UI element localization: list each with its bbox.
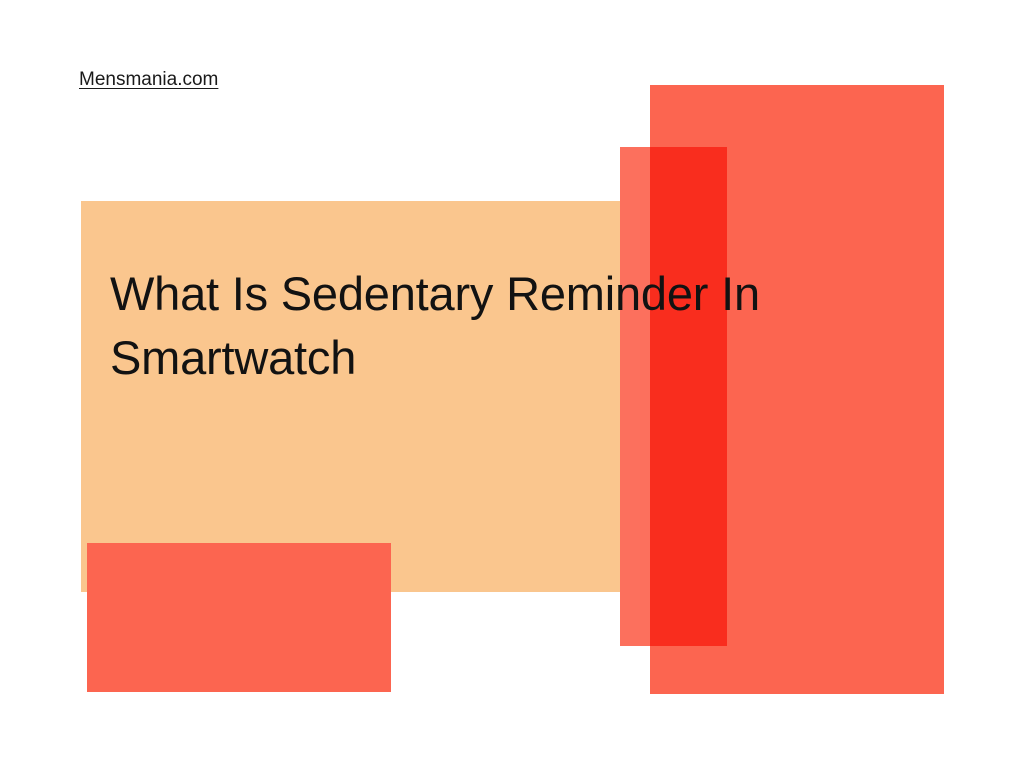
page-title: What Is Sedentary Reminder In Smartwatch: [110, 262, 830, 390]
peach-panel: [81, 201, 620, 592]
site-watermark: Mensmania.com: [79, 68, 218, 92]
blog-thumbnail-canvas: Mensmania.com What Is Sedentary Reminder…: [0, 0, 1024, 768]
red-bottom-left-panel: [87, 543, 391, 692]
red-tall-panel-front: [620, 147, 727, 646]
